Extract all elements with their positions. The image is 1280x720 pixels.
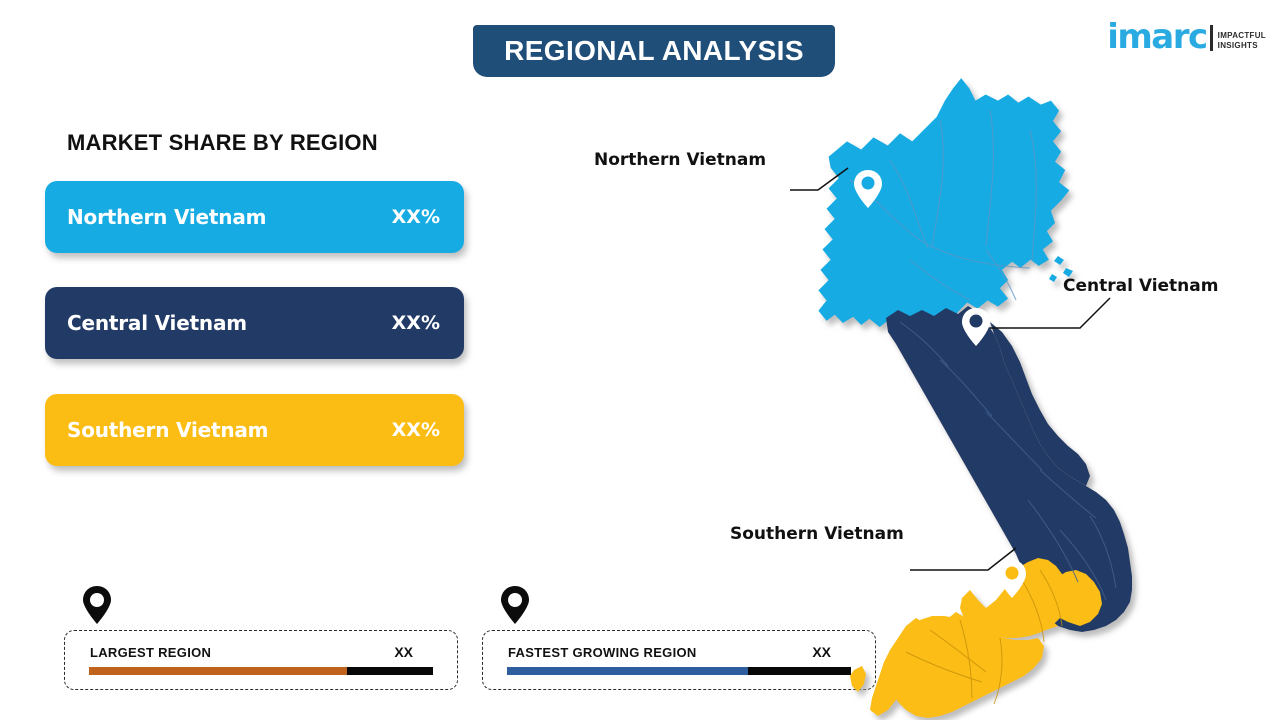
region-bar-label: Southern Vietnam — [67, 418, 268, 442]
largest-region-progress-track — [89, 667, 433, 675]
logo-tagline-line2: INSIGHTS — [1218, 41, 1266, 51]
map-callout-label-central-vietnam: Central Vietnam — [1063, 276, 1218, 296]
market-share-heading: MARKET SHARE BY REGION — [67, 130, 378, 156]
region-bar-northern-vietnam[interactable]: Northern Vietnam XX% — [45, 181, 464, 253]
imarc-logo: imarc IMPACTFUL INSIGHTS — [1107, 12, 1266, 54]
map-pin-icon — [80, 585, 114, 625]
page-title-banner: REGIONAL ANALYSIS — [473, 25, 835, 77]
logo-wordmark: imarc — [1107, 20, 1206, 54]
largest-region-legend: LARGEST REGION XX — [64, 585, 458, 690]
logo-divider — [1210, 25, 1213, 51]
map-callout-label-northern-vietnam: Northern Vietnam — [594, 150, 766, 170]
logo-tagline: IMPACTFUL INSIGHTS — [1218, 31, 1266, 51]
page-title: REGIONAL ANALYSIS — [504, 35, 804, 67]
map-pin-icon — [498, 585, 532, 625]
map-callout-label-southern-vietnam: Southern Vietnam — [730, 524, 904, 544]
map-island-phu-quoc — [850, 666, 866, 692]
largest-region-card: LARGEST REGION XX — [64, 630, 458, 690]
fastest-growing-region-label: FASTEST GROWING REGION — [508, 645, 697, 660]
vietnam-regional-map — [790, 60, 1270, 720]
largest-region-progress-fill — [89, 667, 347, 675]
region-bar-southern-vietnam[interactable]: Southern Vietnam XX% — [45, 394, 464, 466]
region-bar-value: XX% — [392, 312, 440, 334]
region-bar-label: Northern Vietnam — [67, 205, 266, 229]
largest-region-label: LARGEST REGION — [90, 645, 211, 660]
logo-tagline-line1: IMPACTFUL — [1218, 31, 1266, 41]
region-bar-value: XX% — [392, 419, 440, 441]
region-bar-central-vietnam[interactable]: Central Vietnam XX% — [45, 287, 464, 359]
region-bar-value: XX% — [392, 206, 440, 228]
largest-region-value: XX — [394, 644, 413, 660]
fastest-growing-region-progress-fill — [507, 667, 748, 675]
region-bar-label: Central Vietnam — [67, 311, 247, 335]
map-region-northern-vietnam — [818, 78, 1069, 329]
leader-line-central — [990, 298, 1110, 328]
